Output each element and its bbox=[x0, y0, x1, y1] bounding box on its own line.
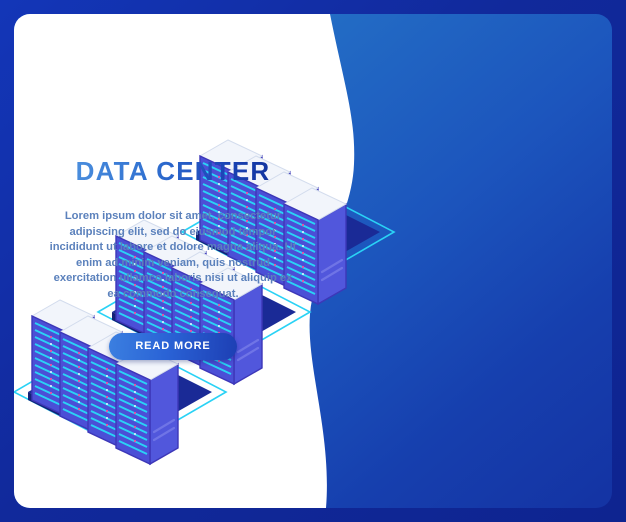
content-column: DATA CENTER Lorem ipsum dolor sit amet, … bbox=[42, 52, 304, 472]
read-more-button[interactable]: READ MORE bbox=[109, 333, 236, 360]
banner-card: DATA CENTER Lorem ipsum dolor sit amet, … bbox=[14, 14, 612, 508]
page-title: DATA CENTER bbox=[76, 156, 271, 187]
body-paragraph: Lorem ipsum dolor sit amet, consectetur … bbox=[49, 209, 297, 303]
cta-wrapper: READ MORE bbox=[109, 333, 236, 360]
banner-stage: DATA CENTER Lorem ipsum dolor sit amet, … bbox=[0, 0, 626, 522]
